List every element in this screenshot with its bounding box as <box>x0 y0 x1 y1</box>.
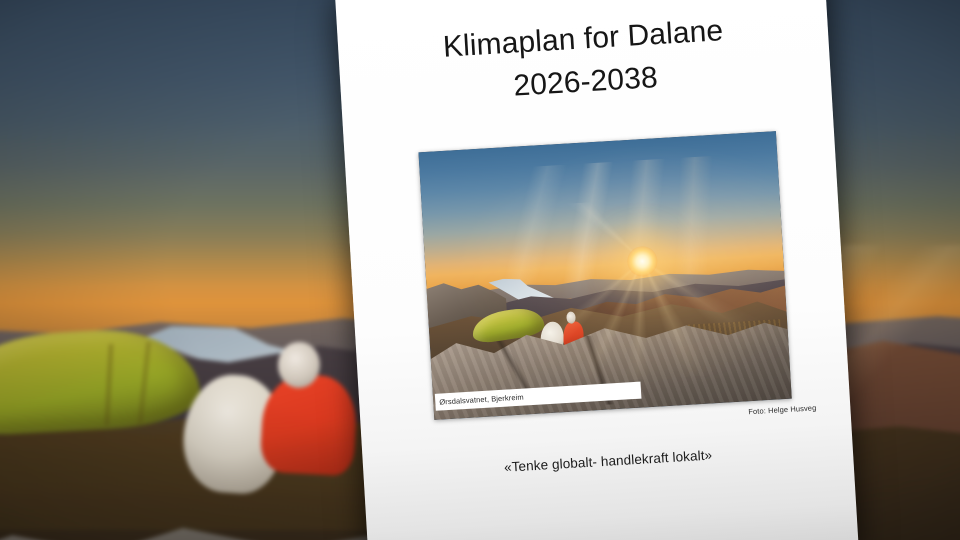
document-title: Klimaplan for Dalane 2026-2038 <box>337 4 831 118</box>
document-title-line-2: 2026-2038 <box>340 46 832 118</box>
cover-photo-scene <box>418 131 791 420</box>
document-page-content: Klimaplan for Dalane 2026-2038 <box>335 0 859 540</box>
screenshot-stage: Klimaplan for Dalane 2026-2038 <box>0 0 960 540</box>
cover-photo <box>418 131 791 420</box>
photo-sun-rays <box>508 192 778 387</box>
document-page: Klimaplan for Dalane 2026-2038 <box>335 0 859 540</box>
photo-caption-text: Ørsdalsvatnet, Bjerkreim <box>435 393 524 407</box>
photo-credit: Foto: Helge Husveg <box>646 403 816 422</box>
document-tagline: «Tenke globalt- handlekraft lokalt» <box>363 439 853 483</box>
